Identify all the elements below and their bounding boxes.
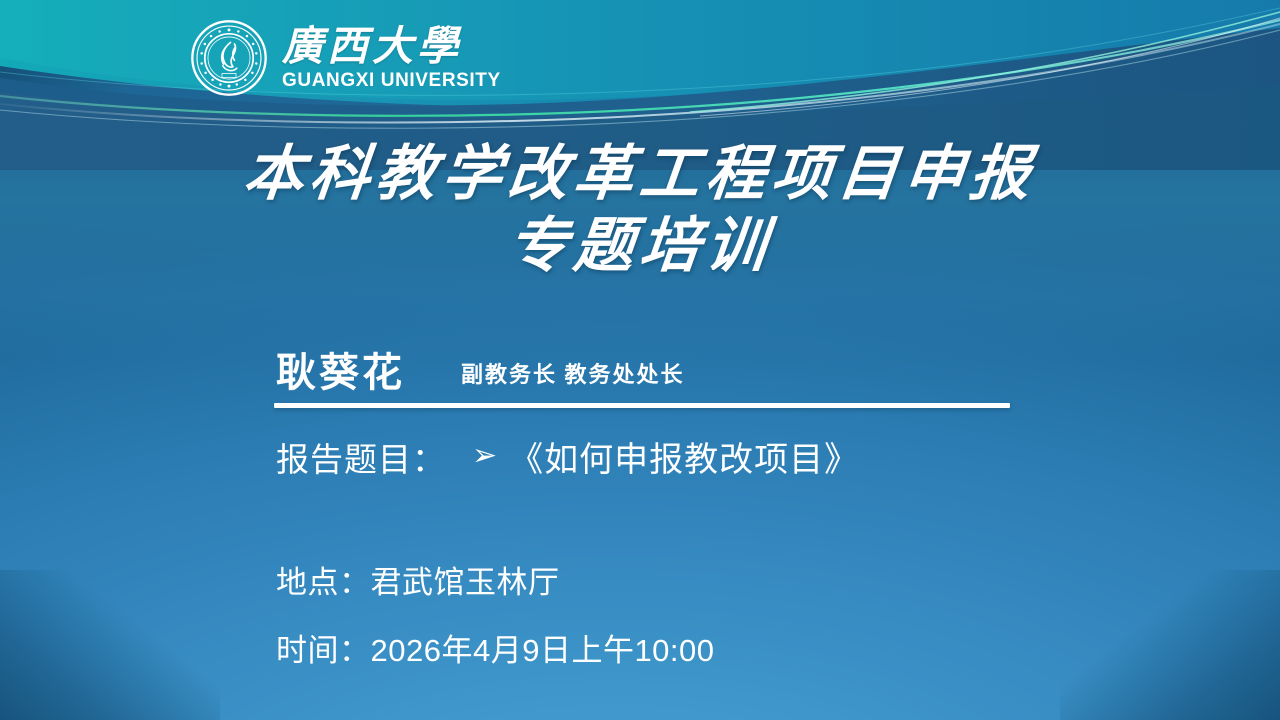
time-line: 时间：2026年4月9日上午10:00 — [276, 625, 715, 670]
logo-wordmark: 廣西大學 GUANGXI UNIVERSITY — [282, 24, 501, 93]
logo-chinese-name: 廣西大學 — [282, 26, 501, 68]
report-title-label: 报告题目： — [276, 433, 446, 481]
speaker-name: 耿葵花 — [276, 340, 405, 398]
speaker-role: 副教务长 教务处处长 — [461, 357, 685, 389]
horizontal-divider — [274, 403, 1010, 408]
page-title-line-2: 专题培训 — [0, 210, 1280, 282]
page-title-line-1: 本科教学改革工程项目申报 — [0, 138, 1280, 210]
corner-shade-bottom-left — [0, 570, 220, 720]
university-logo: 廣西大學 GUANGXI UNIVERSITY — [190, 12, 501, 104]
guangxi-university-seal-icon — [190, 19, 268, 97]
logo-english-name: GUANGXI UNIVERSITY — [282, 70, 501, 92]
venue-line: 地点：君武馆玉林厅 — [276, 557, 560, 602]
report-title-row: 报告题目： ➢ 《如何申报教改项目》 — [276, 432, 859, 481]
page-title: 本科教学改革工程项目申报 专题培训 — [0, 138, 1280, 282]
speaker-info: 耿葵花 副教务长 教务处处长 — [276, 340, 685, 398]
report-title-value: 《如何申报教改项目》 — [509, 432, 859, 481]
corner-shade-bottom-right — [1060, 570, 1280, 720]
title-slide: 廣西大學 GUANGXI UNIVERSITY 本科教学改革工程项目申报 专题培… — [0, 0, 1280, 720]
arrow-bullet-icon: ➢ — [472, 438, 497, 473]
